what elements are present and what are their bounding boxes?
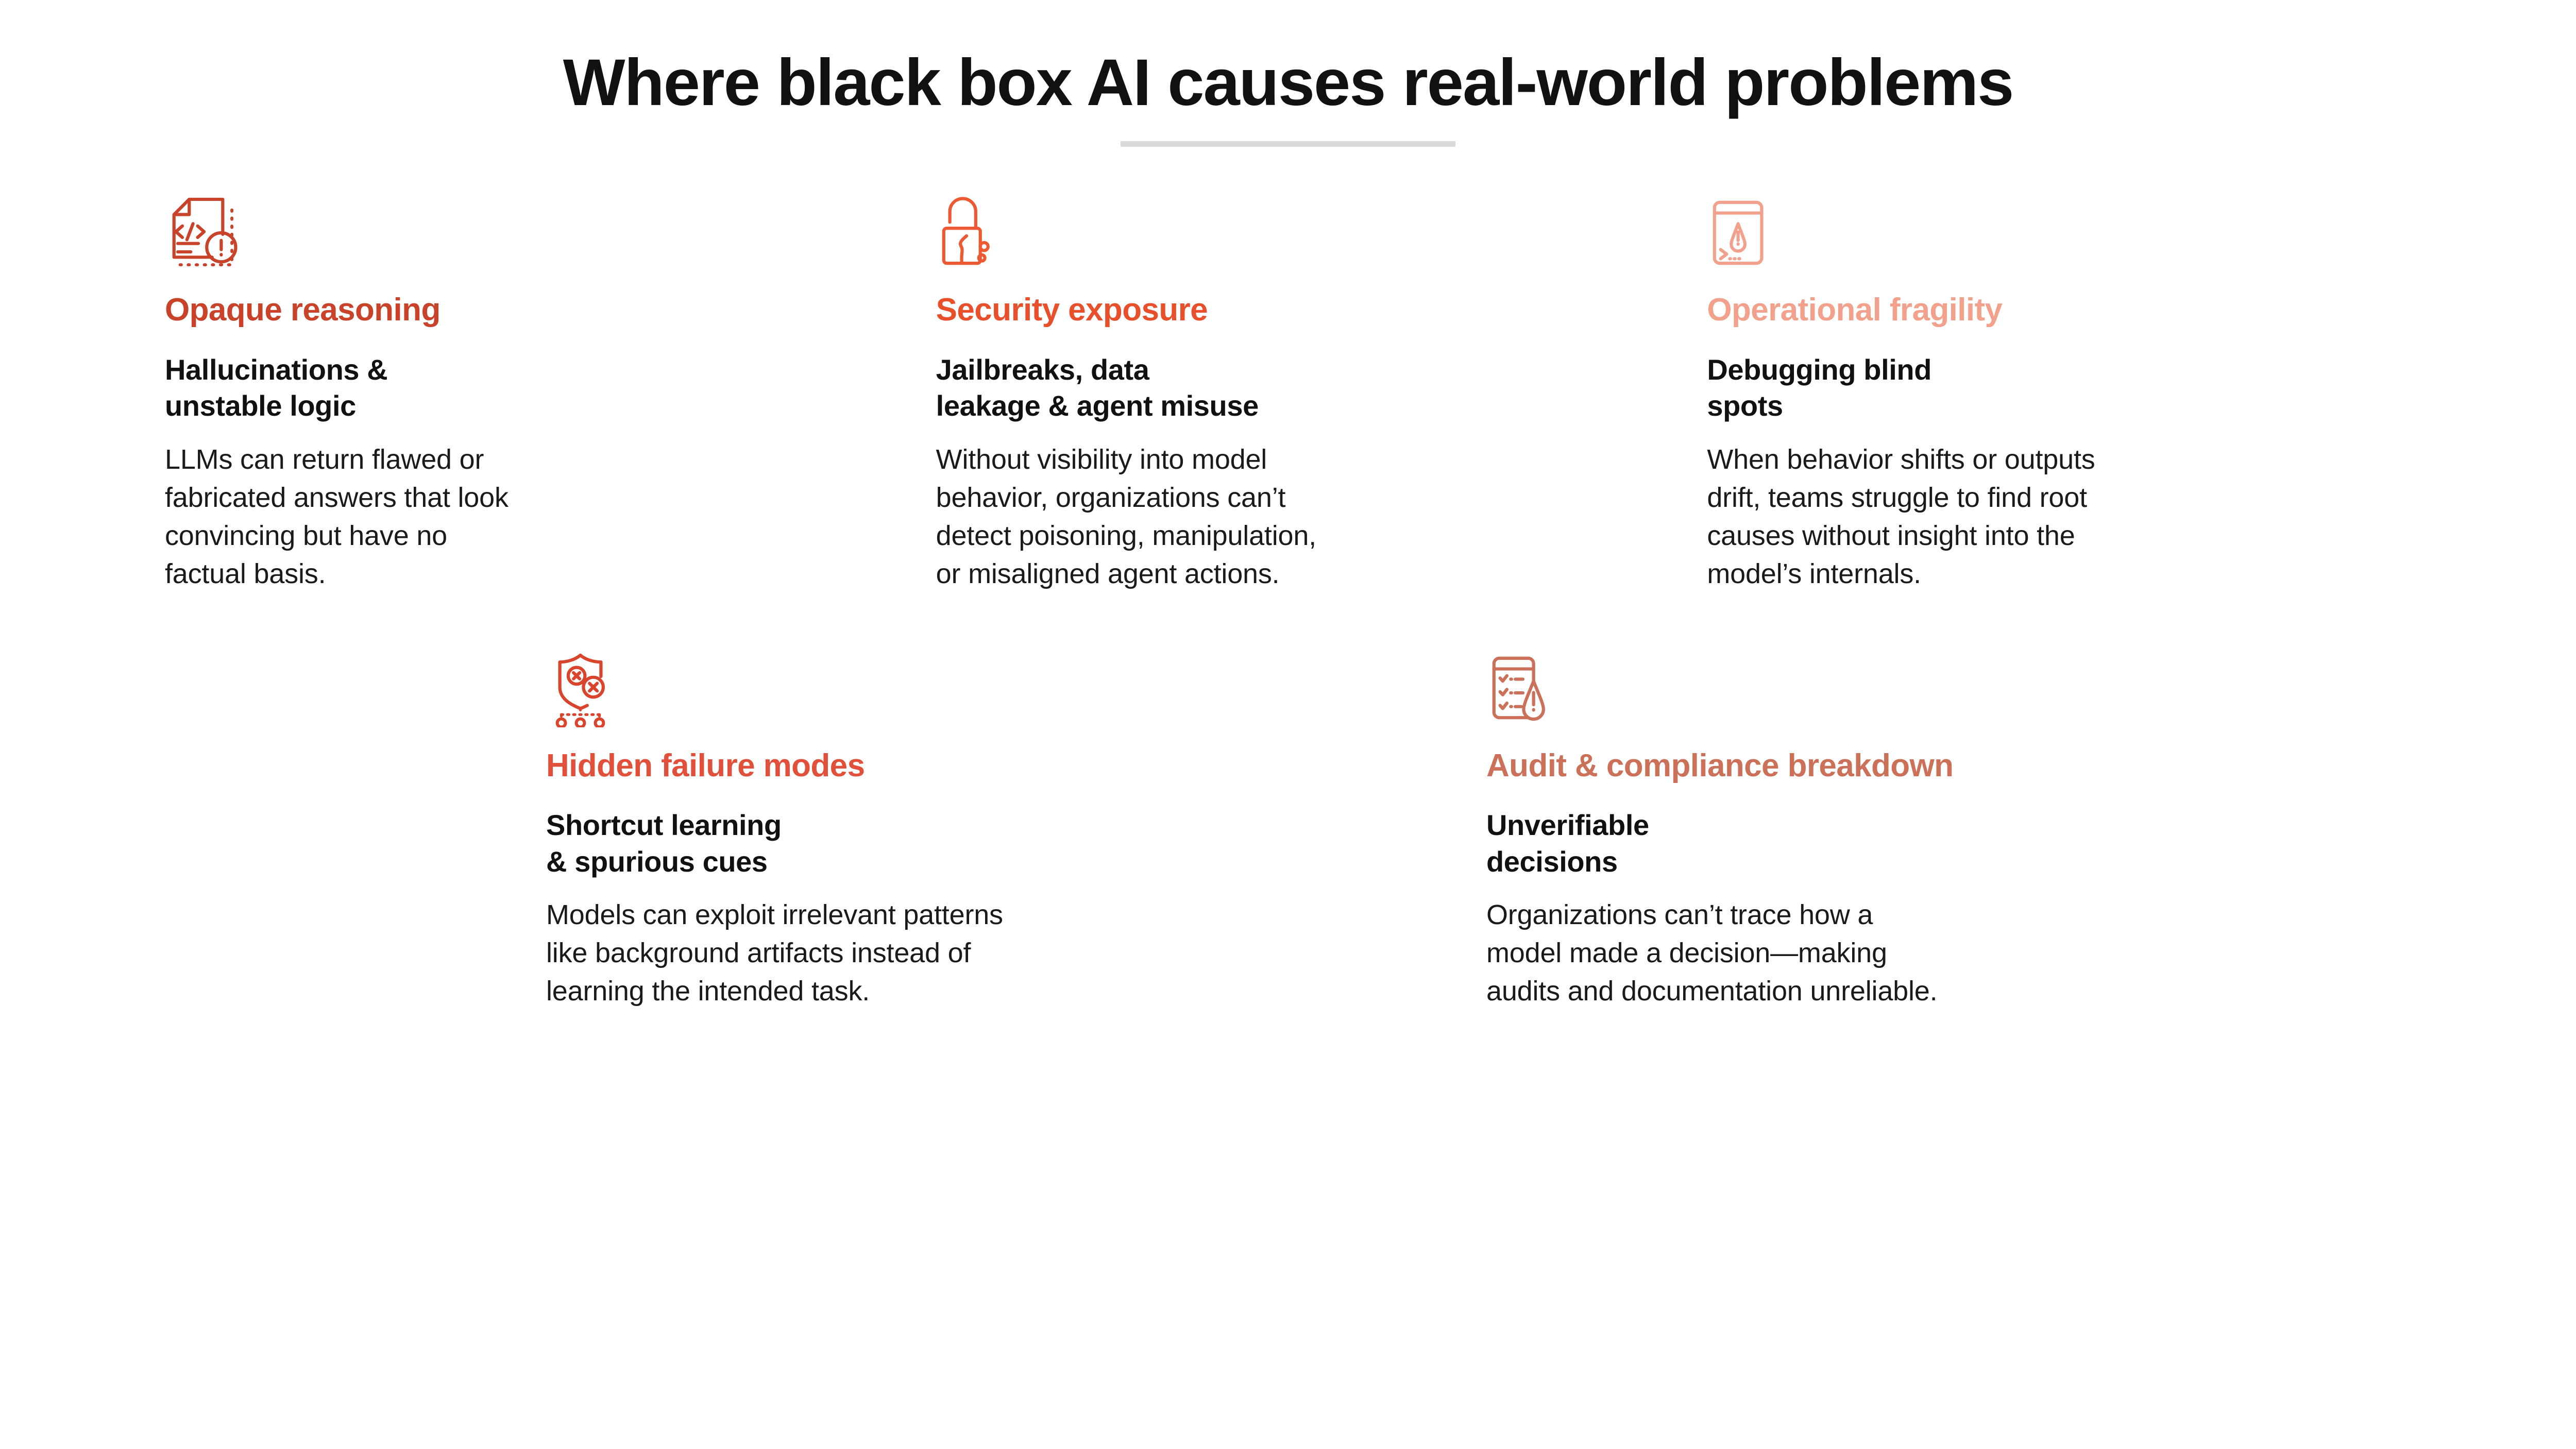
card-body: Models can exploit irrelevant patterns l…: [546, 896, 1486, 1011]
card-body: Without visibility into model behavior, …: [936, 441, 1656, 593]
card-subhead: Hallucinations & unstable logic: [165, 352, 885, 424]
card-subhead: Unverifiable decisions: [1486, 807, 2427, 880]
card-row-top: Opaque reasoning Hallucinations & unstab…: [165, 194, 2427, 593]
card-subhead: Jailbreaks, data leakage & agent misuse: [936, 352, 1656, 424]
card-body: When behavior shifts or outputs drift, t…: [1707, 441, 2427, 593]
terminal-warning-icon: [1707, 194, 2427, 271]
card-opaque-reasoning: Opaque reasoning Hallucinations & unstab…: [165, 194, 885, 593]
card-row-bottom: Hidden failure modes Shortcut learning &…: [165, 650, 2427, 1011]
code-document-warning-icon: [165, 194, 885, 271]
card-eyebrow: Audit & compliance breakdown: [1486, 748, 2427, 783]
card-hidden-failure-modes: Hidden failure modes Shortcut learning &…: [546, 650, 1486, 1011]
card-eyebrow: Operational fragility: [1707, 292, 2427, 328]
page-title: Where black box AI causes real-world pro…: [0, 47, 2576, 118]
open-padlock-leak-icon: [936, 194, 1656, 271]
card-security-exposure: Security exposure Jailbreaks, data leaka…: [936, 194, 1656, 593]
card-operational-fragility: Operational fragility Debugging blind sp…: [1707, 194, 2427, 593]
card-eyebrow: Opaque reasoning: [165, 292, 885, 328]
card-body: LLMs can return flawed or fabricated ans…: [165, 441, 885, 593]
card-subhead: Shortcut learning & spurious cues: [546, 807, 1486, 880]
page-header: Where black box AI causes real-world pro…: [0, 0, 2576, 147]
card-body: Organizations can’t trace how a model ma…: [1486, 896, 2427, 1011]
title-divider: [1121, 141, 1455, 147]
card-eyebrow: Hidden failure modes: [546, 748, 1486, 783]
card-subhead: Debugging blind spots: [1707, 352, 2427, 424]
card-audit-compliance-breakdown: Audit & compliance breakdown Unverifiabl…: [1486, 650, 2427, 1011]
checklist-warning-icon: [1486, 650, 2427, 727]
problem-card-grid: Opaque reasoning Hallucinations & unstab…: [0, 194, 2576, 1011]
card-eyebrow: Security exposure: [936, 292, 1656, 328]
shield-broken-gears-icon: [546, 650, 1486, 727]
